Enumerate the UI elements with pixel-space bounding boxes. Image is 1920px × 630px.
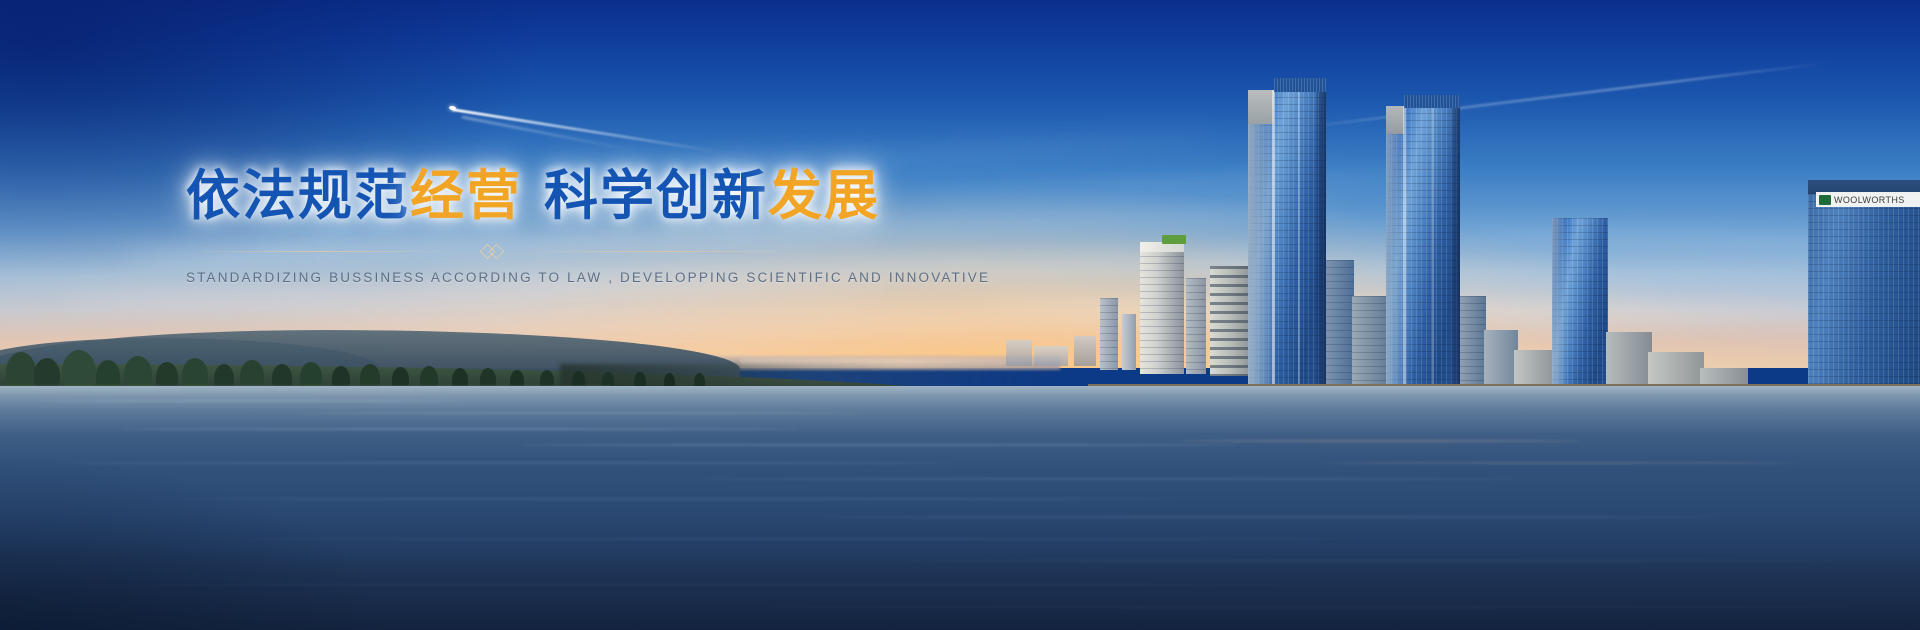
divider	[186, 246, 798, 258]
distant-block	[1034, 346, 1068, 366]
page-title: 依法规范经营科学创新发展	[186, 168, 926, 224]
woolworths-sign-label: WOOLWORTHS	[1834, 195, 1905, 205]
midrise-tower	[1122, 314, 1136, 370]
glass-tower-main-right	[1386, 106, 1460, 404]
woolworths-logo-icon	[1819, 195, 1831, 205]
distant-block	[1006, 340, 1032, 366]
hero-banner: WOOLWORTHS	[0, 0, 1920, 630]
midrise-tower	[1186, 278, 1206, 374]
subtitle: STANDARDIZING BUSSINESS ACCORDING TO LAW…	[186, 270, 926, 285]
midrise-tower	[1326, 260, 1354, 400]
rooftop-green-sign	[1162, 235, 1186, 244]
river-vignette	[0, 386, 1920, 630]
highrise-with-sign	[1140, 242, 1184, 374]
rooftop-sign-woolworths: WOOLWORTHS	[1816, 192, 1920, 207]
diamond-ornament-icon-2	[489, 244, 505, 260]
headline-segment-3: 科学创新	[544, 166, 768, 226]
midrise-tower	[1100, 298, 1118, 370]
headline-segment-4: 发展	[768, 166, 880, 226]
slab-tower	[1210, 266, 1250, 376]
headline-segment-1: 依法规范	[186, 166, 410, 226]
banner-copy: 依法规范经营科学创新发展 STANDARDIZING BUSSINESS ACC…	[186, 168, 926, 285]
distant-block	[1074, 336, 1096, 366]
headline-segment-2: 经营	[410, 166, 522, 226]
glass-tower-main-left	[1248, 90, 1326, 398]
